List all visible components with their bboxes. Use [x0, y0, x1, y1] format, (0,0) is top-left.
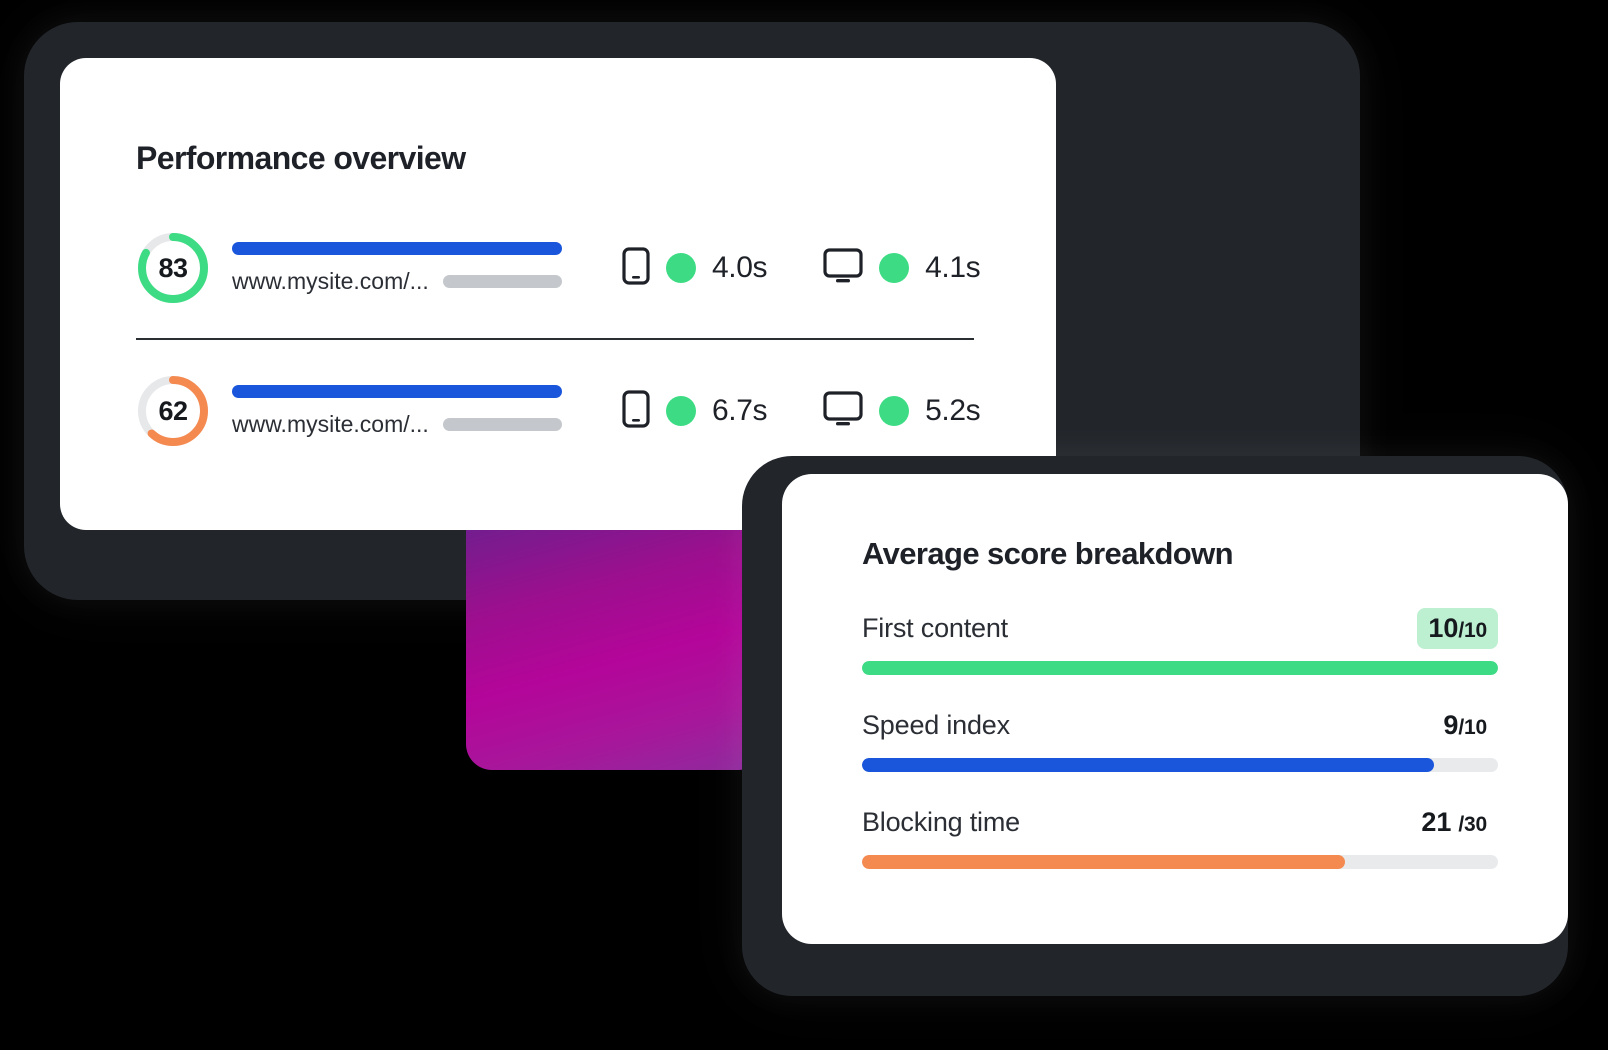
status-dot: [666, 253, 696, 283]
metric-label: Blocking time: [862, 807, 1020, 838]
score-badge: 9/10: [1432, 705, 1498, 746]
progress-fill: [862, 758, 1434, 772]
site-url: www.mysite.com/...: [232, 268, 429, 295]
url-progress-bar: [232, 385, 562, 398]
progress-track: [862, 758, 1498, 772]
status-dot: [879, 396, 909, 426]
score-badge: 10/10: [1417, 608, 1498, 649]
mobile-phone-icon: [622, 390, 650, 433]
url-progress-bar: [232, 242, 562, 255]
breakdown-row[interactable]: First content 10/10: [862, 608, 1498, 675]
progress-track: [862, 661, 1498, 675]
score-number: 10: [1428, 613, 1458, 644]
score-number: 21: [1421, 807, 1451, 838]
site-meta: www.mysite.com/...: [232, 385, 562, 438]
average-score-breakdown-card: Average score breakdown First content 10…: [782, 474, 1568, 944]
metric-desktop: 4.1s: [823, 248, 980, 289]
score-denominator: /10: [1458, 716, 1487, 740]
metric-label: First content: [862, 613, 1008, 644]
row-divider: [136, 338, 974, 340]
metric-mobile: 6.7s: [622, 390, 767, 433]
score-ring: 83: [136, 231, 210, 305]
score-value: 83: [136, 231, 210, 305]
metric-mobile: 4.0s: [622, 247, 767, 290]
breakdown-row[interactable]: Speed index 9/10: [862, 705, 1498, 772]
breakdown-row[interactable]: Blocking time 21/30: [862, 802, 1498, 869]
metric-value: 4.0s: [712, 251, 767, 285]
breakdown-title: Average score breakdown: [862, 536, 1233, 572]
site-row[interactable]: 62 www.mysite.com/... 6.7s: [136, 365, 974, 457]
breakdown-row-head: First content 10/10: [862, 608, 1498, 648]
score-denominator: /10: [1458, 619, 1487, 643]
metric-value: 6.7s: [712, 394, 767, 428]
url-line: www.mysite.com/...: [232, 411, 562, 438]
score-ring: 62: [136, 374, 210, 448]
desktop-monitor-icon: [823, 248, 863, 289]
site-url: www.mysite.com/...: [232, 411, 429, 438]
score-value: 62: [136, 374, 210, 448]
url-placeholder-pill: [443, 418, 562, 431]
url-line: www.mysite.com/...: [232, 268, 562, 295]
breakdown-row-head: Blocking time 21/30: [862, 802, 1498, 842]
status-dot: [879, 253, 909, 283]
site-row[interactable]: 83 www.mysite.com/... 4.0s: [136, 222, 974, 314]
score-denominator: /30: [1458, 813, 1487, 837]
magenta-gradient-block: [466, 520, 764, 770]
metric-label: Speed index: [862, 710, 1010, 741]
metric-desktop: 5.2s: [823, 391, 980, 432]
site-meta: www.mysite.com/...: [232, 242, 562, 295]
metric-value: 5.2s: [925, 394, 980, 428]
desktop-monitor-icon: [823, 391, 863, 432]
progress-fill: [862, 661, 1498, 675]
progress-track: [862, 855, 1498, 869]
progress-fill: [862, 855, 1345, 869]
score-number: 9: [1443, 710, 1458, 741]
metric-value: 4.1s: [925, 251, 980, 285]
breakdown-row-head: Speed index 9/10: [862, 705, 1498, 745]
score-badge: 21/30: [1410, 802, 1498, 843]
screenshot-stage: Performance overview 83 www.mysite.com/.…: [0, 0, 1608, 1050]
url-placeholder-pill: [443, 275, 562, 288]
status-dot: [666, 396, 696, 426]
mobile-phone-icon: [622, 247, 650, 290]
page-title: Performance overview: [136, 140, 466, 177]
